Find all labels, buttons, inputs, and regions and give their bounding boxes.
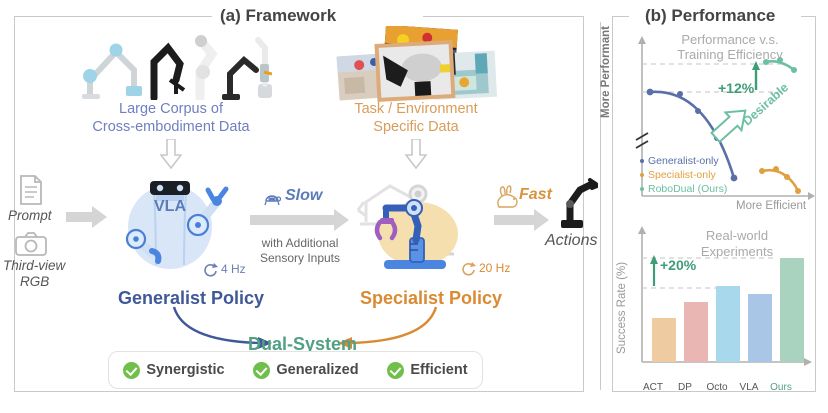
feature-item-efficient: Efficient xyxy=(387,362,467,379)
actions-label: Actions xyxy=(545,232,597,250)
legend-label-specialist: Specialist-only xyxy=(648,169,716,181)
legend-label-generalist: Generalist-only xyxy=(648,155,719,167)
feature-item-synergistic: Synergistic xyxy=(123,362,224,379)
feature-list: Synergistic Generalized Efficient xyxy=(108,351,483,389)
arrow-right-input-icon xyxy=(66,205,108,229)
legend-dot-icon xyxy=(640,187,644,191)
slow-sub-line2: Sensory Inputs xyxy=(248,251,352,265)
bar-category-ours: Ours xyxy=(762,382,800,393)
rabbit-icon xyxy=(493,185,519,209)
legend-dot-icon xyxy=(640,173,644,177)
third-view-label-line2: RGB xyxy=(20,274,49,289)
chart2-ylabel: Success Rate (%) xyxy=(616,262,628,354)
arrow-down-task-icon xyxy=(405,139,427,169)
robot-arms-image xyxy=(72,28,272,100)
third-view-label-line1: Third-view xyxy=(3,258,65,273)
turtle-icon xyxy=(262,188,282,208)
industrial-robot-icon xyxy=(548,178,598,230)
chart2-gain-label: +20% xyxy=(660,257,696,273)
chart1-ylabel: More Performant xyxy=(600,26,612,118)
corpus-caption-line1: Large Corpus of xyxy=(86,101,256,118)
chart1-xlabel: More Efficient xyxy=(736,200,806,212)
feature-item-generalized: Generalized xyxy=(253,362,358,379)
generalist-hz-label: 4 Hz xyxy=(221,262,246,276)
fast-label: Fast xyxy=(519,186,552,204)
refresh-icon-generalist xyxy=(203,263,219,277)
corpus-caption-line2: Cross-embodiment Data xyxy=(72,119,270,136)
task-caption-line1: Task / Environment xyxy=(336,101,496,118)
slow-label: Slow xyxy=(285,187,322,205)
feature-label: Synergistic xyxy=(146,362,224,378)
specialist-hz-label: 20 Hz xyxy=(479,261,510,275)
feature-label: Generalized xyxy=(276,362,358,378)
check-icon xyxy=(387,362,404,379)
task-caption-line2: Specific Data xyxy=(336,119,496,136)
arrow-right-slow-icon xyxy=(250,208,350,232)
panel-a-title: (a) Framework xyxy=(212,6,344,26)
task-environment-images xyxy=(330,26,500,104)
refresh-icon-specialist xyxy=(461,262,477,276)
check-icon xyxy=(123,362,140,379)
feature-label: Efficient xyxy=(410,362,467,378)
camera-icon xyxy=(14,231,48,257)
check-icon xyxy=(253,362,270,379)
slow-sub-line1: with Additional xyxy=(248,236,352,250)
panel-b-title: (b) Performance xyxy=(637,6,783,26)
vla-label: VLA xyxy=(154,198,186,216)
legend-dot-icon xyxy=(640,159,644,163)
prompt-label: Prompt xyxy=(8,208,52,223)
arrow-right-fast-icon xyxy=(494,208,550,232)
figure-root: (a) Framework (b) Performance xyxy=(0,0,828,413)
legend-label-robodual: RoboDual (Ours) xyxy=(648,183,727,195)
real-world-experiments-chart xyxy=(616,222,816,374)
arrow-down-corpus-icon xyxy=(160,139,182,169)
chart1-gain-label: +12% xyxy=(718,80,754,96)
document-icon xyxy=(17,174,45,206)
chart1-legend: Generalist-only Specialist-only RoboDual… xyxy=(640,155,727,195)
